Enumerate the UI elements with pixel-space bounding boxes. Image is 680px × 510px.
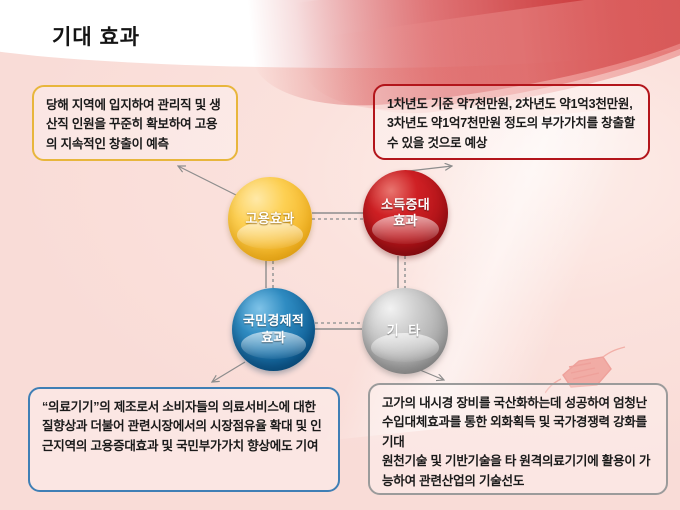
node-income-label-line2: 효과 xyxy=(393,213,418,228)
callout-employment: 당해 지역에 입지하여 관리직 및 생산직 인원을 꾸준히 확보하여 고용의 지… xyxy=(32,85,238,161)
node-economy-label: 국민경제적 효과 xyxy=(239,313,308,346)
node-income[interactable]: 소득증대 효과 xyxy=(363,170,448,256)
node-income-label: 소득증대 효과 xyxy=(377,197,434,230)
callout-other: 고가의 내시경 장비를 국산화하는데 성공하여 엄청난 수입대체효과를 통한 외… xyxy=(368,383,668,495)
arrow-employment-to-box xyxy=(178,166,238,196)
arrow-economy-to-box xyxy=(212,362,245,382)
node-other[interactable]: 기 타 xyxy=(362,288,448,374)
node-employment-label: 고용효과 xyxy=(241,211,298,227)
slide-canvas: 기대 효과 고용효과 소득증대 효과 xyxy=(0,0,680,510)
node-employment[interactable]: 고용효과 xyxy=(228,177,312,261)
callout-income: 1차년도 기준 약7천만원, 2차년도 약1억3천만원, 3차년도 약1억7천만… xyxy=(373,84,650,160)
node-other-label: 기 타 xyxy=(383,323,428,339)
node-economy[interactable]: 국민경제적 효과 xyxy=(232,288,315,371)
node-economy-label-line2: 효과 xyxy=(261,330,286,345)
arrow-other-to-box xyxy=(420,370,444,380)
node-income-label-line1: 소득증대 xyxy=(381,197,430,212)
node-economy-label-line1: 국민경제적 xyxy=(243,313,304,328)
callout-economy: “의료기기”의 제조로서 소비자들의 의료서비스에 대한 질향상과 더불어 관련… xyxy=(28,387,340,492)
